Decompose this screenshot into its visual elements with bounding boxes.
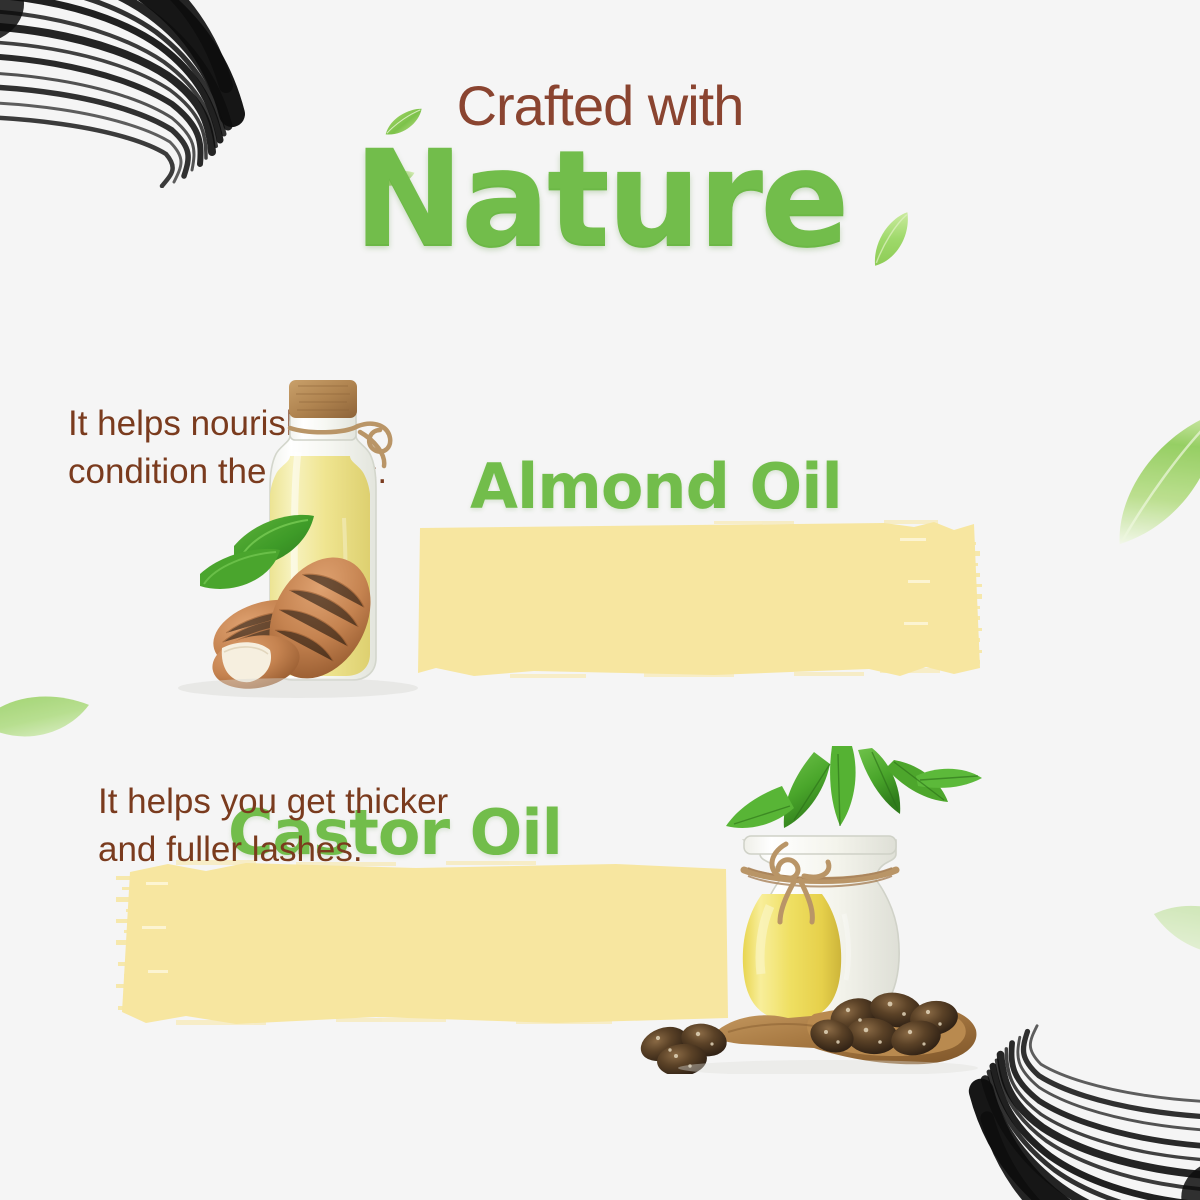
headline-line-2: Nature bbox=[0, 130, 1200, 269]
ingredient-block-almond-oil: Almond Oil It helps nourish & condition … bbox=[0, 366, 1200, 706]
almond-oil-bottle-photo bbox=[138, 368, 458, 698]
castor-oil-jar-photo bbox=[618, 744, 1018, 1074]
infographic-canvas: Crafted with Nature bbox=[0, 0, 1200, 1200]
page-title: Crafted with Nature bbox=[0, 78, 1200, 269]
ingredient-block-castor-oil: Castor Oil It helps you get thicker and … bbox=[0, 740, 1200, 1090]
ingredient-title-almond-oil: Almond Oil bbox=[470, 456, 842, 518]
ingredient-description-castor-oil: It helps you get thicker and fuller lash… bbox=[98, 778, 448, 875]
yellow-brush-banner bbox=[414, 518, 986, 680]
